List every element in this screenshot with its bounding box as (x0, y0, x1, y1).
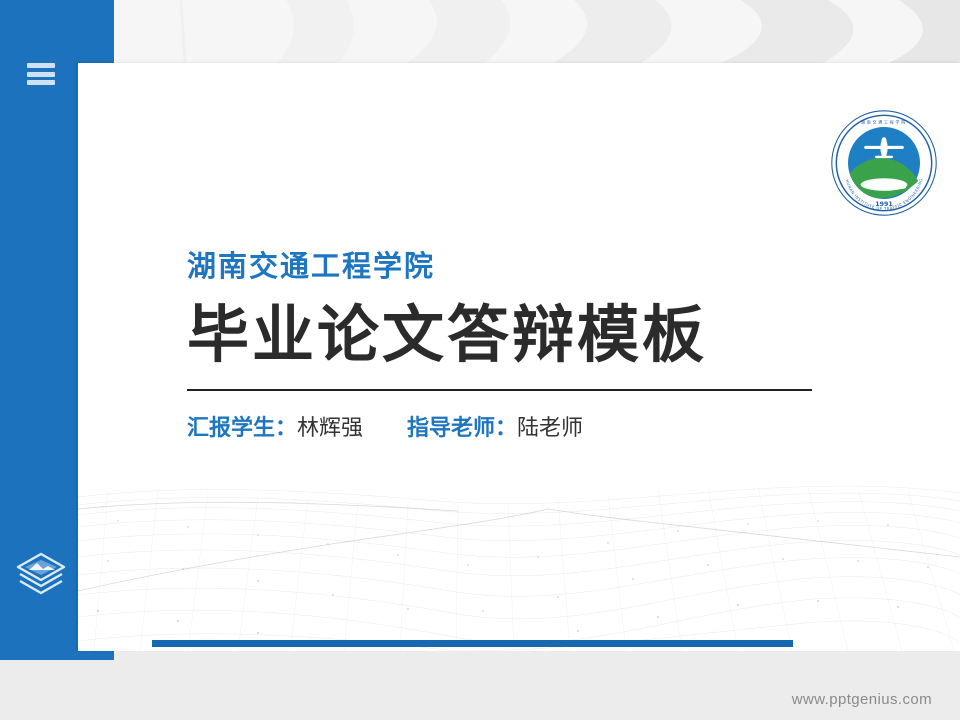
presenter-label: 汇报学生： (187, 416, 297, 441)
layers-stack-icon[interactable] (14, 550, 68, 598)
svg-text:湖南交通工程学院: 湖南交通工程学院 (861, 119, 907, 124)
footer-watermark: www.pptgenius.com (792, 691, 932, 708)
mesh-wave-graphic (78, 461, 960, 651)
hamburger-bar (27, 63, 55, 68)
school-name: 湖南交通工程学院 (187, 249, 887, 284)
byline: 汇报学生：林辉强指导老师：陆老师 (187, 415, 887, 444)
advisor-label: 指导老师： (407, 416, 517, 441)
hamburger-icon[interactable] (27, 63, 55, 85)
hamburger-bar (27, 80, 55, 85)
presentation-slide: 1991 湖南交通工程学院 HUNAN INSTITUTE OF TRAFFIC… (0, 0, 960, 720)
header-decoration-band (0, 0, 960, 64)
title-text-block: 湖南交通工程学院 毕业论文答辩模板 汇报学生：林辉强指导老师：陆老师 (187, 249, 887, 443)
page-title: 毕业论文答辩模板 (187, 302, 887, 369)
slide-content-card: 1991 湖南交通工程学院 HUNAN INSTITUTE OF TRAFFIC… (78, 63, 960, 651)
bottom-accent-bar (152, 640, 793, 647)
advisor-name: 陆老师 (517, 416, 583, 441)
swoosh-graphic (0, 0, 960, 64)
presenter-name: 林辉强 (297, 416, 363, 441)
title-divider (187, 389, 812, 391)
university-emblem-icon: 1991 湖南交通工程学院 HUNAN INSTITUTE OF TRAFFIC… (830, 109, 938, 217)
hamburger-bar (27, 72, 55, 77)
